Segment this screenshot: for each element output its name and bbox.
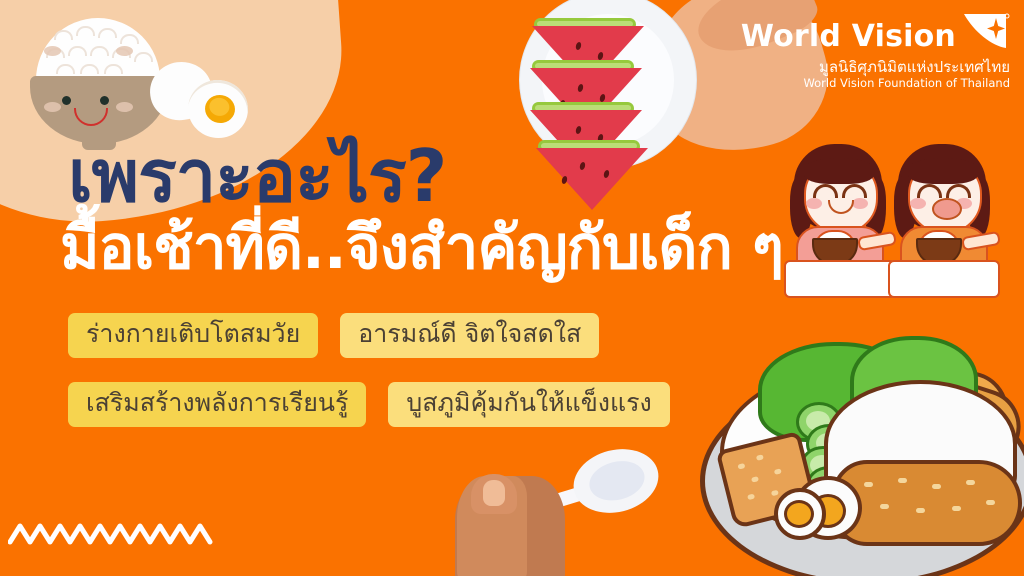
- hand-holding-spoon-icon: [455, 442, 705, 576]
- poster-canvas: เพราะอะไร? มื้อเช้าที่ดี..จึงสำคัญกับเด็…: [0, 0, 1024, 576]
- logo-english-name: World Vision Foundation of Thailand: [741, 77, 1010, 90]
- world-vision-logo: World Vision มูลนิธิศุภนิมิตแห่งประเทศไท…: [741, 22, 1010, 90]
- zigzag-squiggle-decoration-icon: [8, 520, 218, 558]
- benefits-row-1: ร่างกายเติบโตสมวัย อารมณ์ดี จิตใจสดใส: [68, 313, 768, 358]
- breakfast-plate-chicken-rice-icon: [700, 348, 1024, 576]
- benefits-list: ร่างกายเติบโตสมวัย อารมณ์ดี จิตใจสดใส เส…: [68, 313, 768, 451]
- two-children-eating-rice-icon: [782, 142, 1010, 294]
- benefit-pill: เสริมสร้างพลังการเรียนรู้: [68, 382, 366, 427]
- logo-thai-name: มูลนิธิศุภนิมิตแห่งประเทศไทย: [741, 59, 1010, 76]
- logo-wordmark: World Vision: [741, 22, 956, 52]
- world-vision-sail-star-icon: [962, 12, 1010, 52]
- headline-statement: มื้อเช้าที่ดี..จึงสำคัญกับเด็ก ๆ: [60, 218, 783, 278]
- benefit-pill: ร่างกายเติบโตสมวัย: [68, 313, 318, 358]
- headline-question: เพราะอะไร?: [68, 140, 446, 212]
- benefit-pill: อารมณ์ดี จิตใจสดใส: [340, 313, 599, 358]
- benefit-pill: บูสภูมิคุ้มกันให้แข็งแรง: [388, 382, 669, 427]
- benefits-row-2: เสริมสร้างพลังการเรียนรู้ บูสภูมิคุ้มกัน…: [68, 382, 768, 427]
